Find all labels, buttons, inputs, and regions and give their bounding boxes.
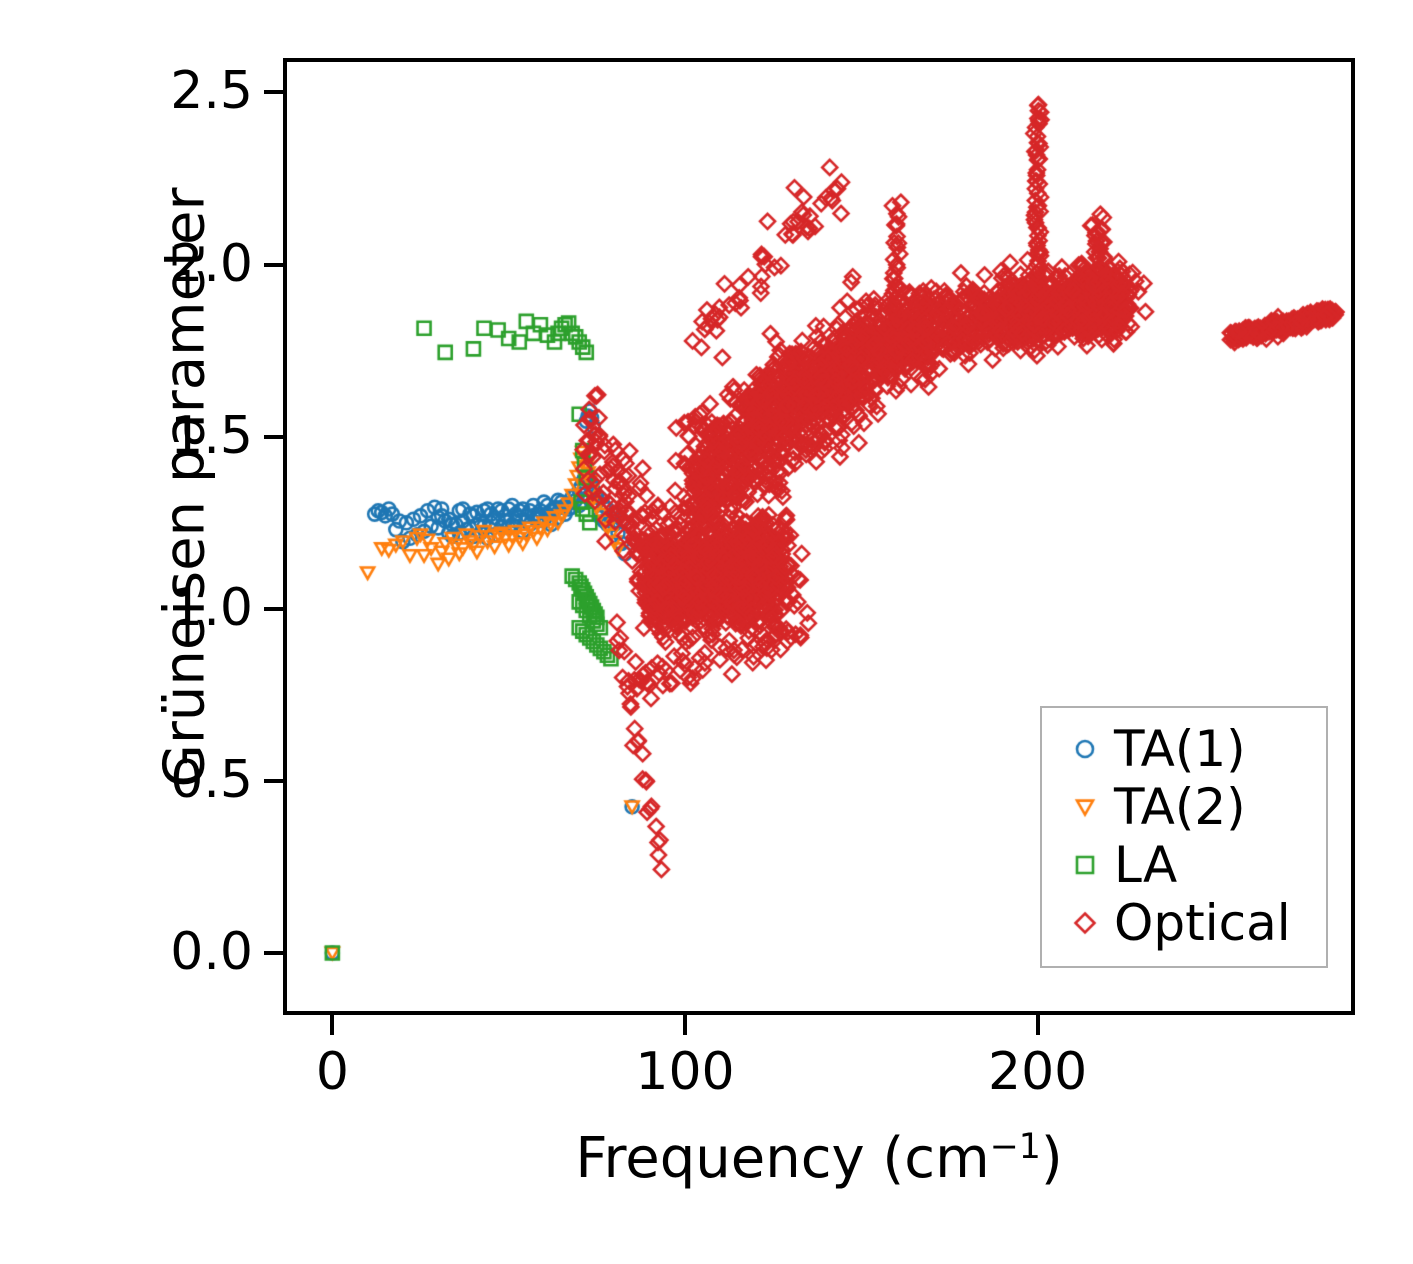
y-axis-label: Grüneisen parameter: [153, 8, 218, 968]
x-axis-label-base: Frequency (cm: [575, 1126, 989, 1191]
x-axis-label: Frequency (cm−1): [283, 1126, 1355, 1191]
x-tick-mark: [1036, 1013, 1040, 1035]
triangle-down-icon: [1056, 790, 1114, 824]
x-tick-mark: [330, 1013, 334, 1035]
square-icon: [1056, 848, 1114, 882]
legend-item-ta2[interactable]: TA(2): [1056, 778, 1312, 836]
legend-item-label: TA(2): [1114, 782, 1246, 832]
y-tick-mark: [264, 435, 286, 439]
x-tick-label: 200: [988, 1046, 1087, 1098]
legend: TA(1)TA(2)LAOptical: [1040, 706, 1328, 968]
y-tick-mark: [264, 779, 286, 783]
x-axis-label-tail: ): [1041, 1126, 1063, 1191]
legend-item-optical[interactable]: Optical: [1056, 894, 1312, 952]
legend-item-label: LA: [1114, 840, 1177, 890]
y-tick-mark: [264, 263, 286, 267]
x-axis-label-exponent: −1: [990, 1127, 1041, 1167]
legend-item-label: TA(1): [1114, 724, 1246, 774]
x-tick-mark: [683, 1013, 687, 1035]
x-tick-label: 100: [635, 1046, 734, 1098]
legend-item-la[interactable]: LA: [1056, 836, 1312, 894]
y-tick-mark: [264, 607, 286, 611]
legend-item-ta1[interactable]: TA(1): [1056, 720, 1312, 778]
y-tick-mark: [264, 951, 286, 955]
circle-icon: [1056, 732, 1114, 766]
diamond-icon: [1056, 906, 1114, 940]
figure-scatter-plot: 0.00.51.01.52.02.5 0100200 Grüneisen par…: [0, 0, 1413, 1264]
legend-item-label: Optical: [1114, 898, 1291, 948]
y-tick-mark: [264, 90, 286, 94]
x-tick-label: 0: [316, 1046, 349, 1098]
